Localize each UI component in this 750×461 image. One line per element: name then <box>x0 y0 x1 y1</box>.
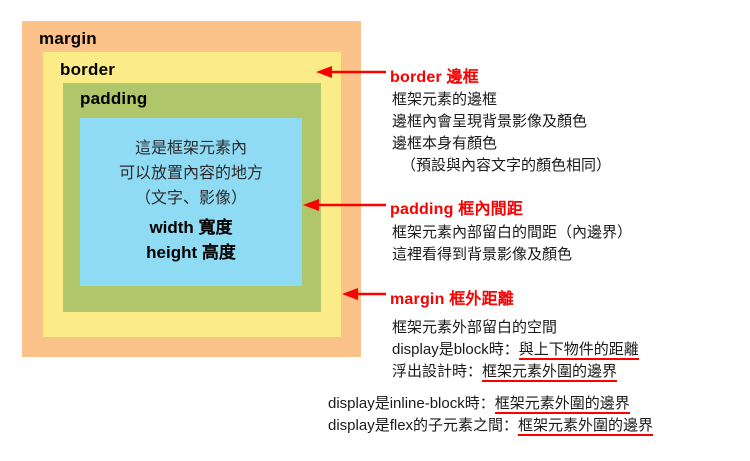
margin-box: margin border padding 這是框架元素內 可以放置內容的地方 … <box>22 21 361 357</box>
annotation-heading-margin: margin 框外距離 <box>390 285 514 309</box>
content-line-2: 可以放置內容的地方 <box>80 161 302 186</box>
annotation-border-line-4: （預設與內容文字的顏色相同） <box>392 155 611 177</box>
annotation-body-border: 框架元素的邊框 邊框內會呈現背景影像及顏色 邊框本身有顏色 （預設與內容文字的顏… <box>392 89 611 177</box>
content-box-description: 這是框架元素內 可以放置內容的地方 （文字、影像） <box>80 136 302 211</box>
annotation-margin-line-block: display是block時：與上下物件的距離 <box>392 339 639 361</box>
annotation-margin-line-flex: display是flex的子元素之間：框架元素外圍的邊界 <box>328 415 653 437</box>
margin-block-underlined: 與上下物件的距離 <box>519 341 639 360</box>
padding-box-label: padding <box>80 89 148 109</box>
annotation-heading-padding: padding 框內間距 <box>390 195 523 219</box>
content-box-dimensions: width 寬度 height 高度 <box>80 215 302 265</box>
annotation-body-margin: 框架元素外部留白的空間 display是block時：與上下物件的距離 浮出設計… <box>392 317 639 383</box>
annotation-body-margin-extra: display是inline-block時：框架元素外圍的邊界 display是… <box>328 393 653 437</box>
annotation-margin-line-float: 浮出設計時：框架元素外圍的邊界 <box>392 361 639 383</box>
margin-inlineblock-underlined: 框架元素外圍的邊界 <box>495 395 630 414</box>
annotation-border-line-2: 邊框內會呈現背景影像及顏色 <box>392 111 611 133</box>
annotation-heading-border: border 邊框 <box>390 63 479 87</box>
content-box: 這是框架元素內 可以放置內容的地方 （文字、影像） width 寬度 heigh… <box>80 118 302 286</box>
margin-flex-underlined: 框架元素外圍的邊界 <box>518 417 653 436</box>
border-box: border padding 這是框架元素內 可以放置內容的地方 （文字、影像）… <box>43 52 341 337</box>
box-model-diagram: margin border padding 這是框架元素內 可以放置內容的地方 … <box>22 21 361 357</box>
annotation-margin-line-1: 框架元素外部留白的空間 <box>392 317 639 339</box>
annotation-body-padding: 框架元素內部留白的間距（內邊界） 這裡看得到背景影像及顏色 <box>392 222 632 266</box>
margin-block-prefix: display是block時： <box>392 341 519 358</box>
annotation-border-line-3: 邊框本身有顏色 <box>392 133 611 155</box>
content-width-label: width 寬度 <box>80 215 302 240</box>
margin-flex-prefix: display是flex的子元素之間： <box>328 417 518 434</box>
margin-box-label: margin <box>39 29 97 49</box>
padding-box: padding 這是框架元素內 可以放置內容的地方 （文字、影像） width … <box>63 83 321 312</box>
content-line-1: 這是框架元素內 <box>80 136 302 161</box>
margin-inlineblock-prefix: display是inline-block時： <box>328 395 495 412</box>
annotation-margin-line-inline-block: display是inline-block時：框架元素外圍的邊界 <box>328 393 653 415</box>
content-line-3: （文字、影像） <box>80 186 302 211</box>
annotation-border-line-1: 框架元素的邊框 <box>392 89 611 111</box>
content-height-label: height 高度 <box>80 240 302 265</box>
annotation-padding-line-2: 這裡看得到背景影像及顏色 <box>392 244 632 266</box>
border-box-label: border <box>60 60 115 80</box>
margin-float-underlined: 框架元素外圍的邊界 <box>482 363 617 382</box>
margin-float-prefix: 浮出設計時： <box>392 363 482 380</box>
annotation-padding-line-1: 框架元素內部留白的間距（內邊界） <box>392 222 632 244</box>
